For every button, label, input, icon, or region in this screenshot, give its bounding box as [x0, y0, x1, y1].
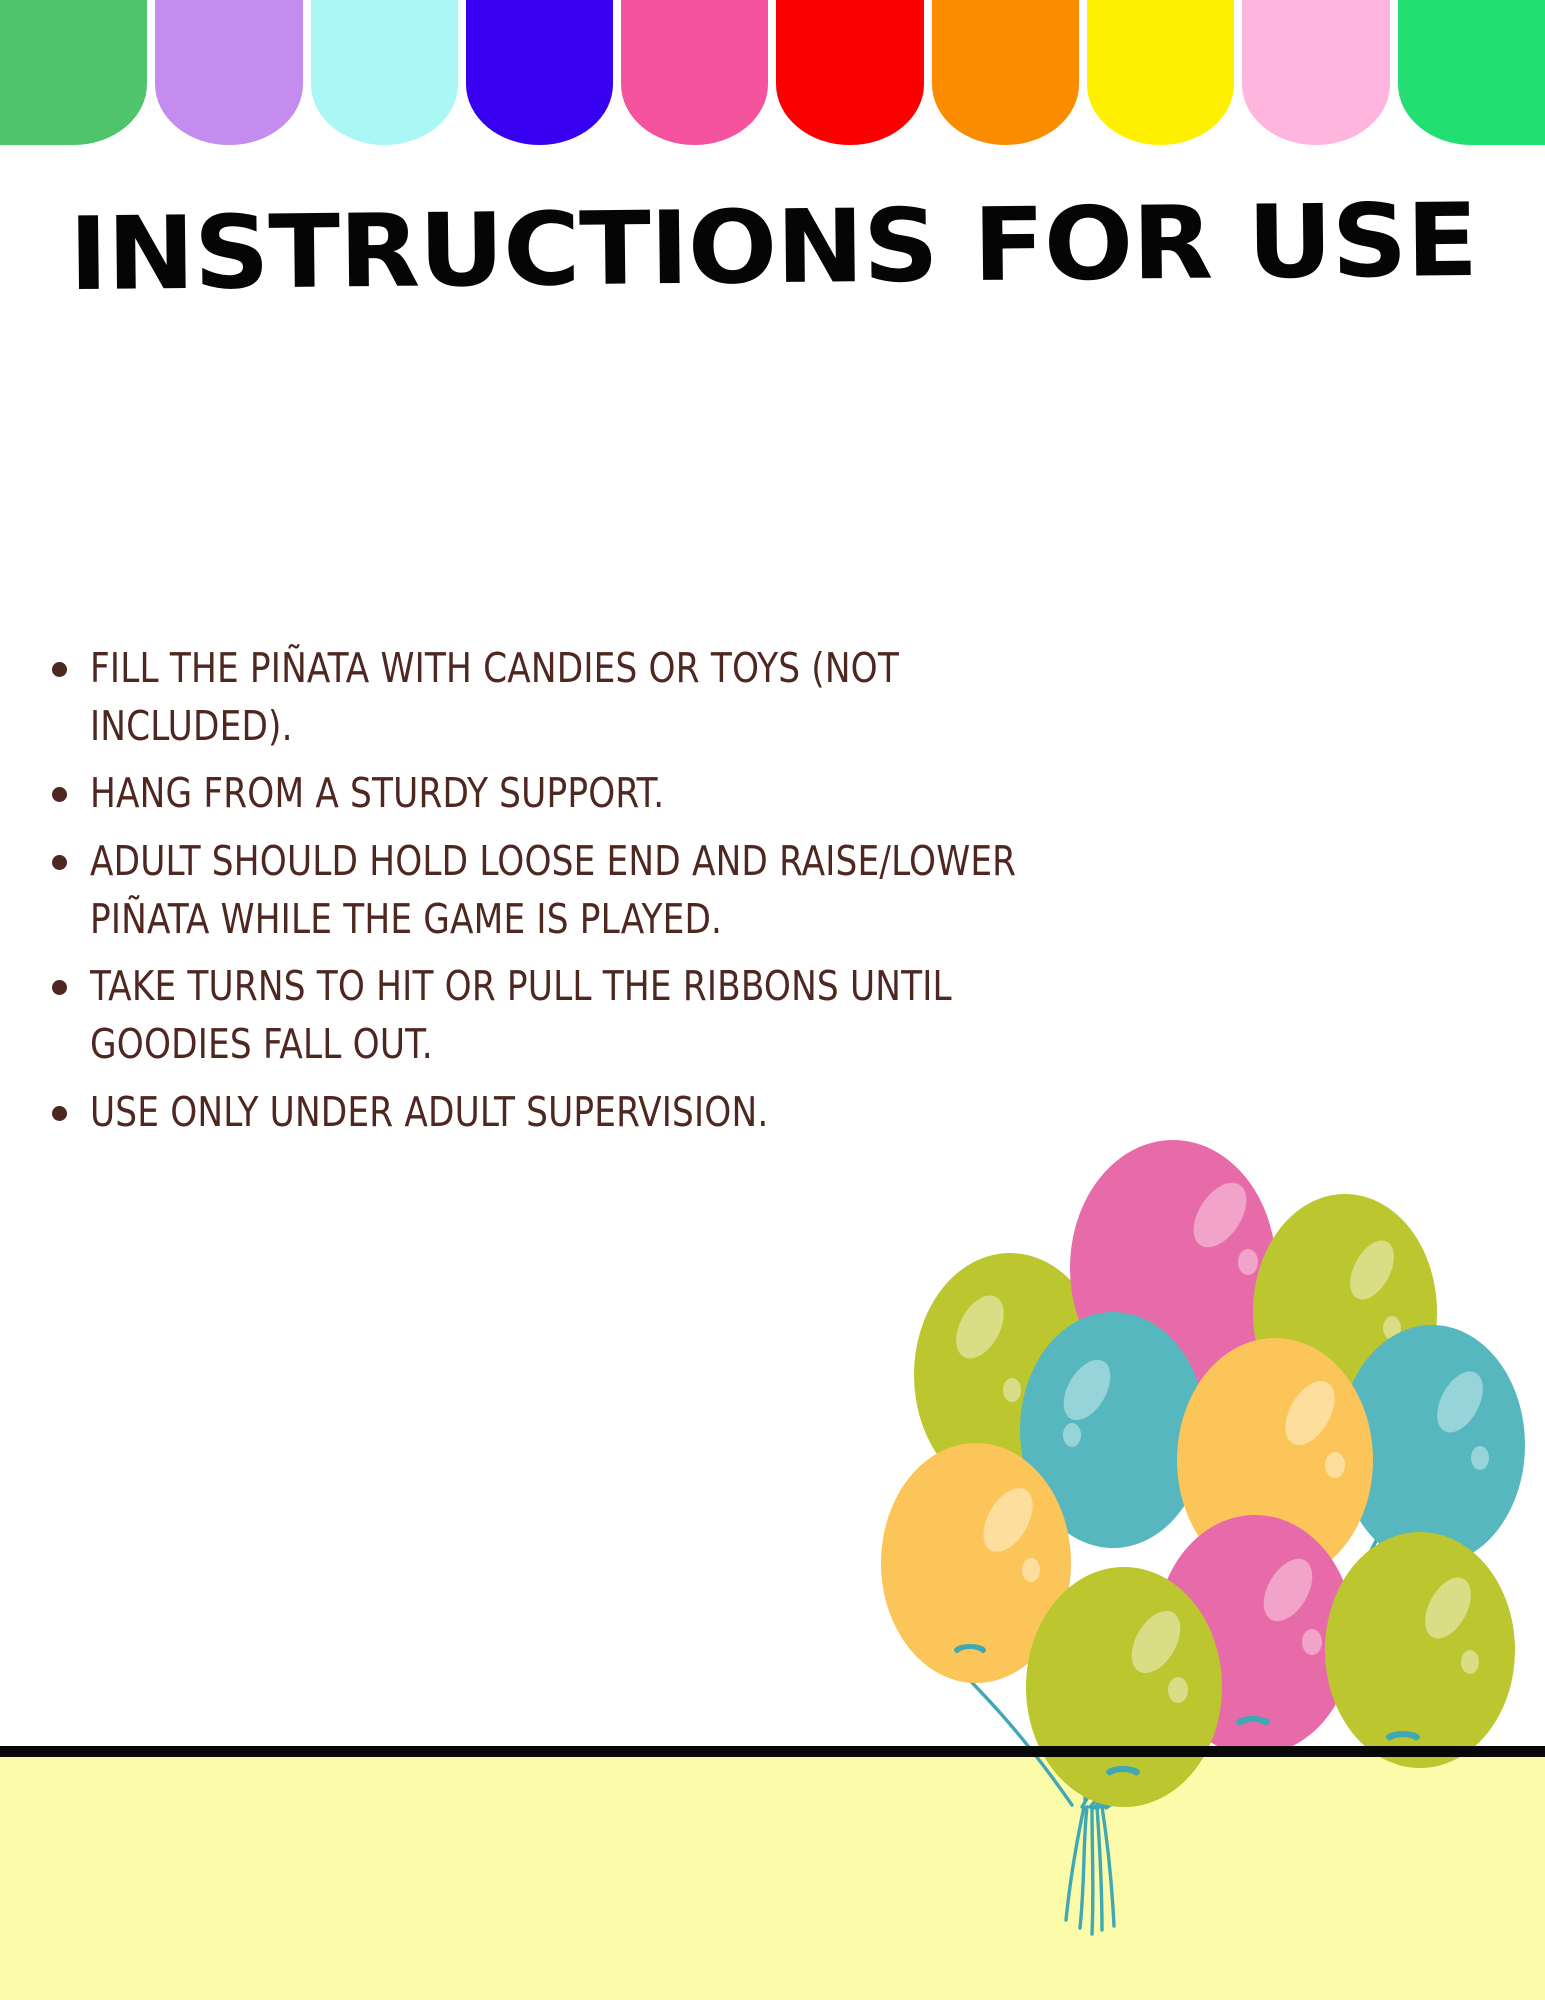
list-item: HANG FROM A STURDY SUPPORT.	[52, 764, 1162, 822]
list-item: ADULT SHOULD HOLD LOOSE END AND RAISE/LO…	[52, 832, 1162, 948]
instruction-text: TAKE TURNS TO HIT OR PULL THE RIBBONS UN…	[90, 957, 1087, 1073]
scallop-light-pink	[1242, 0, 1389, 145]
list-item: TAKE TURNS TO HIT OR PULL THE RIBBONS UN…	[52, 957, 1162, 1073]
scallop-aqua	[311, 0, 458, 145]
balloon-olive-lower-center	[1026, 1567, 1222, 1807]
bullet-dot-icon	[52, 855, 67, 870]
instruction-text: FILL THE PIÑATA WITH CANDIES OR TOYS (NO…	[90, 639, 1087, 755]
bullet-dot-icon	[52, 662, 67, 677]
bullet-dot-icon	[52, 787, 67, 802]
scallop-blue	[466, 0, 613, 145]
instruction-text: ADULT SHOULD HOLD LOOSE END AND RAISE/LO…	[90, 832, 1087, 948]
bullet-dot-icon	[52, 980, 67, 995]
instruction-text: USE ONLY UNDER ADULT SUPERVISION.	[90, 1083, 1087, 1141]
list-item: FILL THE PIÑATA WITH CANDIES OR TOYS (NO…	[52, 639, 1162, 755]
page-title-text: INSTRUCTIONS FOR USE	[68, 189, 1477, 306]
scallop-red	[776, 0, 923, 145]
list-item: USE ONLY UNDER ADULT SUPERVISION.	[52, 1083, 1162, 1141]
scallop-spring-green	[1398, 0, 1545, 145]
balloon-bunch-illustration	[880, 1050, 1545, 1950]
scallop-yellow	[1087, 0, 1234, 145]
instruction-text: HANG FROM A STURDY SUPPORT.	[90, 764, 1087, 822]
bullet-dot-icon	[52, 1106, 67, 1121]
scallop-light-purple	[155, 0, 302, 145]
scallop-pink	[621, 0, 768, 145]
scallop-orange	[932, 0, 1079, 145]
instruction-list: FILL THE PIÑATA WITH CANDIES OR TOYS (NO…	[52, 639, 1162, 1150]
scalloped-color-banner	[0, 0, 1545, 145]
footer-divider-rule	[0, 1746, 1545, 1757]
balloon-olive-lower-right	[1325, 1532, 1515, 1768]
scallop-green	[0, 0, 147, 145]
page-title: INSTRUCTIONS FOR USE	[0, 196, 1545, 299]
